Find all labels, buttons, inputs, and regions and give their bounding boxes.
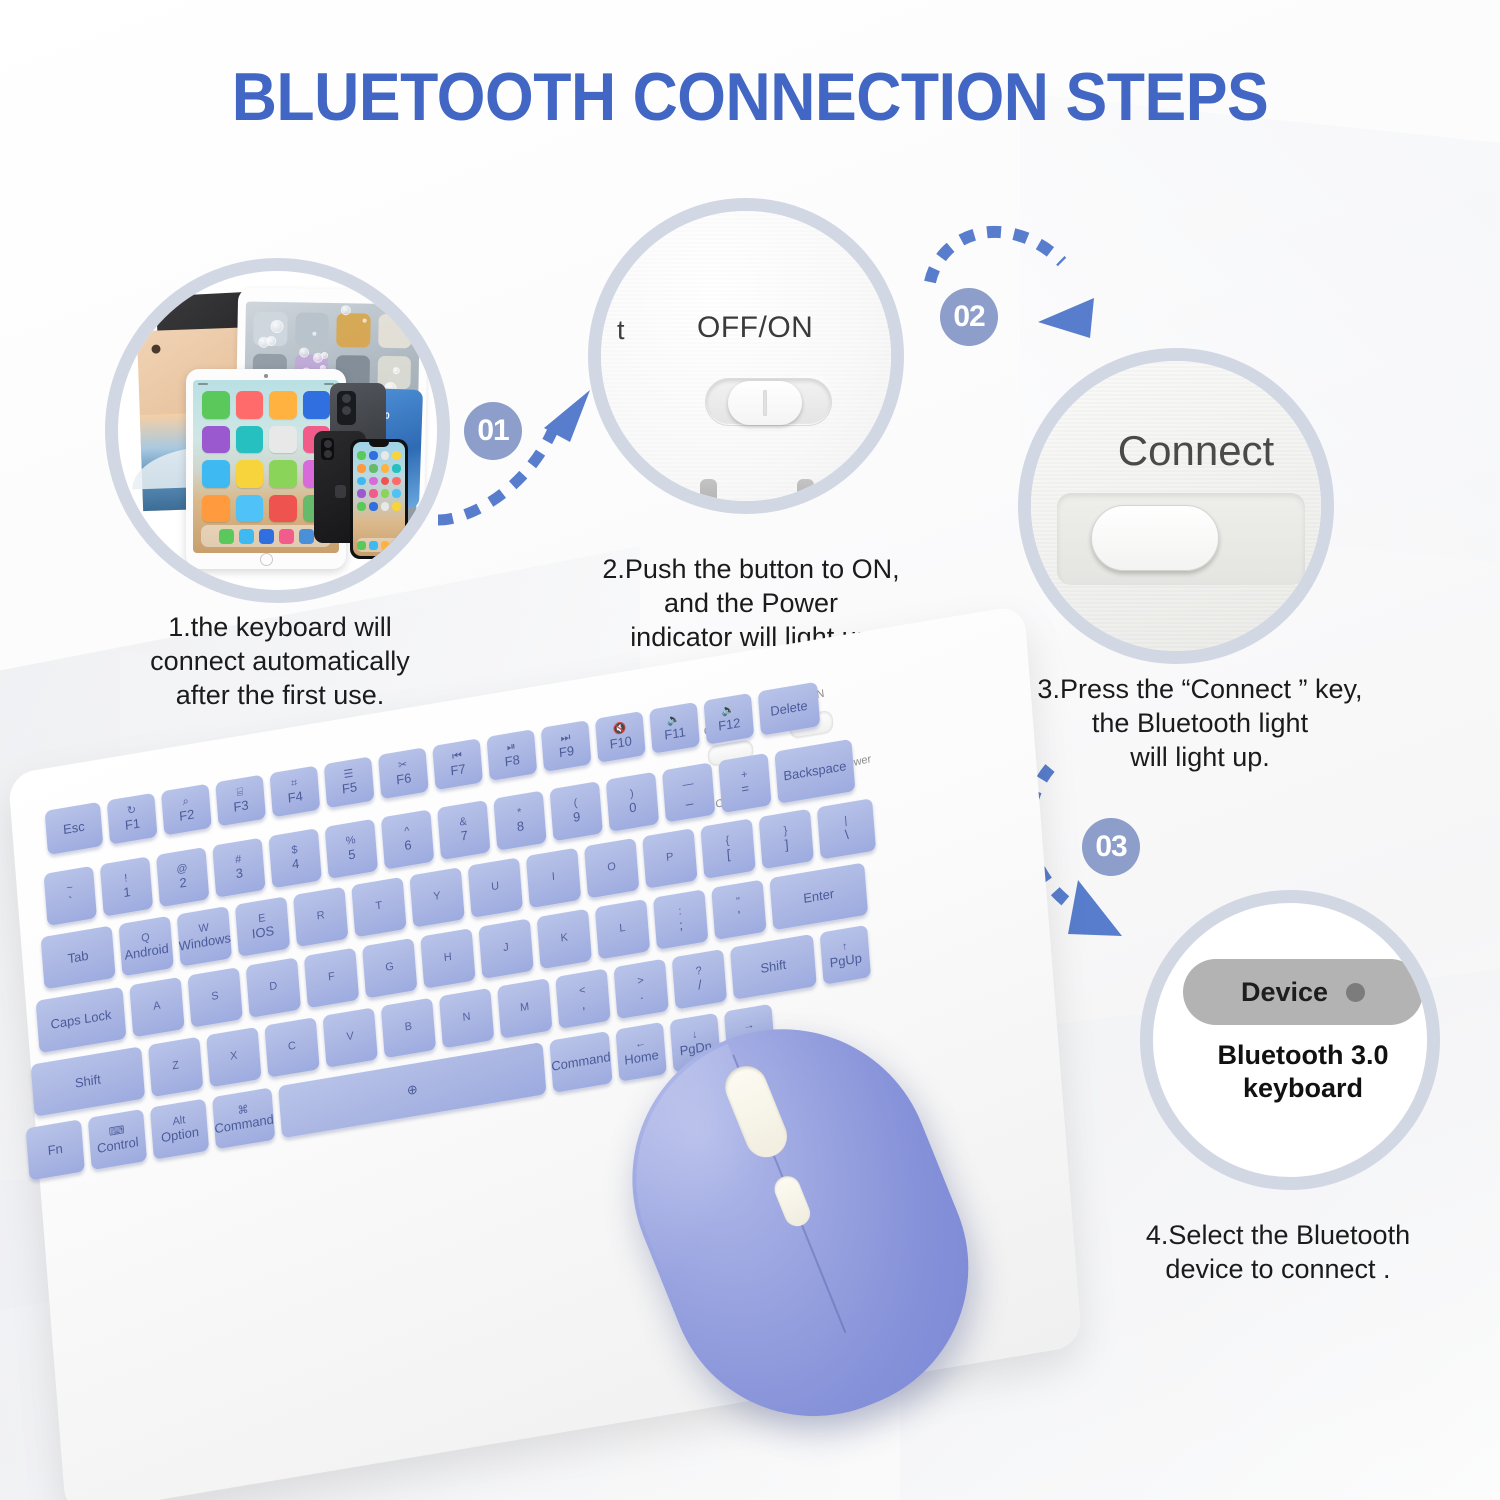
key-5[interactable]: %5 (325, 819, 378, 879)
key-legend-top: ⏮ (452, 751, 463, 764)
water-droplet (363, 319, 367, 323)
key-legend-top: I (552, 872, 556, 884)
step-3-illustration: Connect (1018, 348, 1334, 664)
key-f2[interactable]: ⌕F2 (161, 784, 212, 836)
key-key[interactable]: ~` (44, 866, 97, 926)
key-key[interactable]: :; (653, 889, 708, 950)
key-legend-bottom: [ (726, 847, 731, 861)
key-legend-bottom: F5 (342, 780, 358, 796)
key-legend-bottom: , (581, 997, 586, 1011)
power-switch-knob[interactable] (728, 381, 802, 425)
step-2-illustration: t OFF/ON (588, 198, 904, 514)
key-j[interactable]: J (478, 918, 533, 979)
key-key[interactable]: —_ (662, 762, 715, 822)
key-k[interactable]: K (537, 909, 592, 970)
dock-icon (381, 541, 390, 550)
dock-icon (279, 529, 294, 544)
app-icon (269, 460, 297, 488)
offon-label: OFF/ON (697, 311, 813, 345)
key-legend-top: B (404, 1022, 412, 1035)
key-legend-top: O (607, 862, 616, 875)
key-legend-top: R (316, 910, 325, 923)
key-legend-bottom: Esc (63, 820, 85, 837)
dock-icon (259, 529, 274, 544)
key-f3[interactable]: ⌸F3 (215, 775, 266, 827)
key-legend-bottom: 3 (235, 866, 243, 881)
key-f7[interactable]: ⏮F7 (432, 738, 483, 790)
key-legend-top: ← (635, 1038, 647, 1051)
app-icon (392, 464, 401, 473)
key-legend-top: T (375, 901, 383, 914)
indicator-led-right (797, 479, 814, 514)
connect-label: Connect (1081, 427, 1311, 475)
key-f12[interactable]: 🔊F12 (703, 693, 754, 745)
key-l[interactable]: L (595, 899, 650, 960)
key-c[interactable]: C (264, 1017, 319, 1078)
key-legend-top: * (517, 808, 522, 820)
key-legend-bottom: F6 (396, 771, 412, 787)
key-legend-top: Y (433, 891, 441, 904)
app-icon (369, 489, 378, 498)
key-legend-top: 🔊 (721, 705, 735, 719)
key-key[interactable]: ?/ (672, 949, 727, 1010)
key-legend-top: ⌕ (182, 796, 189, 809)
key-legend-top: > (637, 976, 644, 989)
app-icon (269, 426, 297, 454)
key-1[interactable]: !1 (100, 856, 153, 916)
device-row-pill[interactable]: Device (1183, 959, 1423, 1025)
device-pill-label: Device (1241, 977, 1328, 1008)
key-legend-top: K (560, 933, 568, 946)
key-legend-top: ( (573, 798, 578, 810)
indicator-led-left (700, 479, 717, 514)
app-icon (392, 489, 401, 498)
key-x[interactable]: X (206, 1027, 261, 1088)
key-6[interactable]: ^6 (381, 809, 434, 869)
key-enter[interactable]: Enter (769, 862, 868, 930)
key-legend-top: — (682, 779, 694, 792)
key-u[interactable]: U (468, 857, 523, 918)
key-key[interactable]: }] (759, 809, 814, 870)
app-icon (357, 489, 366, 498)
key-legend-top: ⌸ (236, 787, 243, 800)
key-legend-top: } (783, 826, 788, 838)
key-h[interactable]: H (420, 928, 475, 989)
key-legend-top: V (346, 1031, 354, 1044)
key-legend-top: L (619, 923, 626, 936)
app-icon (202, 426, 230, 454)
key-legend-bottom: ; (679, 918, 684, 932)
key-command[interactable]: ⌘Command (212, 1087, 275, 1149)
app-icon (236, 391, 264, 419)
key-legend-bottom: _ (685, 791, 693, 806)
key-legend-bottom: Shift (74, 1073, 101, 1091)
key-legend-bottom: 7 (460, 828, 468, 843)
key-legend-top: { (725, 836, 730, 848)
key-m[interactable]: M (497, 978, 552, 1039)
key-legend-top: ! (124, 874, 128, 886)
key-v[interactable]: V (323, 1007, 378, 1068)
key-legend-top: $ (291, 845, 298, 858)
key-legend-bottom: F9 (559, 744, 575, 760)
keyboard-panel-surface (588, 199, 904, 514)
key-f11[interactable]: 🔉F11 (649, 702, 700, 754)
power-switch-track[interactable] (705, 378, 832, 426)
key-ios[interactable]: EIOS (235, 896, 290, 957)
app-icon (381, 464, 390, 473)
key-legend-bottom: F7 (450, 762, 466, 778)
key-f4[interactable]: ⌗F4 (269, 765, 320, 817)
key-2[interactable]: @2 (156, 847, 209, 907)
key-n[interactable]: N (439, 988, 494, 1049)
key-legend-top: P (666, 852, 674, 865)
key-legend-top: E (258, 913, 266, 926)
key-legend-top: M (520, 1002, 530, 1015)
key-control[interactable]: ⌨Control (88, 1109, 147, 1170)
key-legend-top: " (736, 897, 741, 909)
key-legend-bottom: Caps Lock (50, 1008, 112, 1032)
key-legend-top: # (235, 855, 242, 868)
key-legend-bottom: ⊕ (406, 1082, 418, 1097)
step-badge-03: 03 (1082, 818, 1140, 876)
dock-icon (392, 541, 401, 550)
water-droplet (393, 367, 400, 374)
water-droplet (341, 305, 351, 315)
app-icon (202, 391, 230, 419)
app-icon (357, 502, 366, 511)
arrow-step-1-to-2 (430, 370, 610, 530)
key-legend-bottom: Tab (67, 949, 89, 966)
key-legend-bottom: IOS (251, 924, 274, 941)
key-legend-bottom: Delete (770, 699, 808, 719)
app-icon (381, 489, 390, 498)
key-0[interactable]: )0 (606, 772, 659, 832)
key-fn[interactable]: Fn (26, 1119, 85, 1180)
key-legend-bottom: Backspace (783, 759, 847, 783)
key-f[interactable]: F (304, 948, 359, 1009)
key-o[interactable]: O (584, 838, 639, 899)
key-legend-bottom: 1 (123, 885, 131, 900)
key-legend-top: ⏭ (560, 733, 571, 746)
key-f10[interactable]: 🔇F10 (595, 711, 646, 763)
key-legend-top: J (503, 942, 509, 954)
key-legend-top: Q (141, 933, 150, 946)
key-pgup[interactable]: ↑PgUp (820, 925, 871, 985)
key-3[interactable]: #3 (212, 838, 265, 898)
key-z[interactable]: Z (148, 1037, 203, 1098)
key-legend-top: ? (695, 966, 702, 979)
key-legend-top: D (269, 981, 278, 994)
key-f6[interactable]: ✂F6 (378, 747, 429, 799)
partial-label-text: t (617, 315, 625, 346)
key-legend-bottom: = (741, 781, 750, 796)
app-icon (369, 451, 378, 460)
key-legend-top: ⏯ (507, 742, 517, 755)
key-legend-top: @ (176, 864, 188, 877)
infographic-canvas: BLUETOOTH CONNECTION STEPS 08 0\u00a0 (0, 0, 1500, 1500)
key-windows[interactable]: WWindows (177, 906, 232, 967)
key-key[interactable]: >. (613, 959, 668, 1020)
key-legend-bottom: ] (784, 838, 789, 852)
app-icon (357, 464, 366, 473)
key-legend-bottom: F8 (504, 753, 520, 769)
dock-icon (239, 529, 254, 544)
black-phone-front (350, 439, 408, 559)
key-legend-top: ~ (66, 883, 73, 896)
water-droplet (312, 332, 316, 336)
app-icon (236, 460, 264, 488)
key-legend-bottom: Enter (803, 887, 835, 906)
key-command[interactable]: Command (549, 1031, 612, 1093)
key-b[interactable]: B (381, 998, 436, 1059)
key-key[interactable]: <, (555, 968, 610, 1029)
key-legend-bottom: \ (845, 828, 850, 842)
key-option[interactable]: AltOption (150, 1098, 209, 1159)
key-legend-top: S (211, 991, 219, 1004)
key-legend-top: F (328, 972, 336, 985)
step-1-illustration: 08 0\u00a0 (105, 258, 450, 603)
app-icon (381, 451, 390, 460)
key-legend-bottom: ` (68, 895, 73, 909)
key-key[interactable]: "' (711, 879, 766, 940)
key-android[interactable]: QAndroid (118, 916, 173, 977)
key-legend-top: : (678, 907, 682, 919)
water-droplet (266, 336, 276, 346)
water-droplet (313, 353, 323, 363)
key-legend-top: W (198, 923, 209, 936)
key-legend-top: ↓ (692, 1030, 698, 1042)
step-4-illustration: Device Bluetooth 3.0 keyboard (1140, 890, 1440, 1190)
key-legend-bottom: F4 (287, 789, 303, 805)
key-legend-top: ✂ (398, 760, 408, 773)
key-legend-bottom: 5 (348, 847, 356, 862)
key-y[interactable]: Y (409, 867, 464, 928)
key-legend-bottom: Fn (47, 1142, 63, 1158)
key-legend-bottom: Home (624, 1048, 659, 1067)
app-icon (369, 477, 378, 486)
key-p[interactable]: P (642, 828, 697, 889)
key-g[interactable]: G (362, 938, 417, 999)
arrow-step-2-to-3 (912, 210, 1112, 370)
step-4-caption: 4.Select the Bluetooth device to connect… (1068, 1218, 1488, 1286)
key-legend-bottom: / (697, 978, 702, 992)
key-legend-top: N (462, 1012, 471, 1025)
key-f8[interactable]: ⏯F8 (486, 729, 537, 781)
key-legend-top: % (346, 835, 357, 848)
step-badge-01: 01 (464, 402, 522, 460)
key-legend-top: 🔉 (667, 714, 681, 728)
key-legend-bottom: 0 (629, 800, 637, 815)
app-icon (269, 391, 297, 419)
key-s[interactable]: S (187, 967, 242, 1028)
key-legend-bottom: F3 (233, 798, 249, 814)
key-f5[interactable]: ☰F5 (324, 756, 375, 808)
app-icon (369, 502, 378, 511)
dock-icon (219, 529, 234, 544)
app-icon (392, 451, 401, 460)
key-legend-top: ☰ (343, 769, 354, 782)
key-legend-top: + (741, 770, 748, 783)
key-t[interactable]: T (351, 877, 406, 938)
app-icon (303, 391, 331, 419)
key-legend-bottom: 4 (291, 857, 299, 872)
key-legend-bottom: ' (738, 908, 742, 922)
key-legend-top: | (844, 816, 848, 828)
app-icon (392, 477, 401, 486)
key-legend-bottom: 9 (573, 810, 581, 825)
key-legend-top: Z (172, 1061, 180, 1074)
app-icon (236, 426, 264, 454)
key-shift[interactable]: Shift (730, 934, 817, 1000)
key-legend-bottom: . (639, 988, 644, 1002)
connect-key-button[interactable] (1091, 505, 1219, 571)
key-legend-bottom: Shift (760, 958, 787, 976)
key-legend-top: ⌗ (291, 778, 298, 791)
key-legend-bottom: 2 (179, 875, 187, 890)
key-legend-top: Alt (172, 1115, 186, 1129)
key-f1[interactable]: ↻F1 (107, 793, 158, 845)
key-legend-bottom: PgUp (829, 951, 862, 970)
key-8[interactable]: *8 (493, 791, 546, 851)
key-legend-top: 🔇 (613, 723, 627, 737)
dock-icon (369, 541, 378, 550)
key-legend-top: ) (630, 789, 635, 801)
key-a[interactable]: A (129, 977, 184, 1038)
key-legend-bottom: F1 (125, 816, 141, 832)
key-legend-bottom: 6 (404, 838, 412, 853)
key-legend-top: & (459, 817, 467, 830)
dock-icon (299, 529, 314, 544)
app-icon (392, 502, 401, 511)
key-r[interactable]: R (293, 887, 348, 948)
key-legend-top: U (491, 881, 500, 894)
app-icon (202, 495, 230, 523)
key-7[interactable]: &7 (437, 800, 490, 860)
device-status-dot (1346, 983, 1365, 1002)
app-icon (378, 314, 412, 348)
app-icon (295, 312, 329, 346)
app-icon (269, 495, 297, 523)
key-4[interactable]: $4 (268, 828, 321, 888)
app-icon (202, 460, 230, 488)
key-key[interactable]: += (718, 753, 771, 813)
key-legend-top: ↻ (127, 805, 137, 818)
key-esc[interactable]: Esc (45, 802, 104, 855)
dock-icon (357, 541, 366, 550)
key-backspace[interactable]: Backspace (774, 739, 855, 804)
app-icon (381, 502, 390, 511)
page-title: BLUETOOTH CONNECTION STEPS (60, 58, 1440, 136)
key-legend-top: ⌘ (237, 1105, 249, 1118)
key-legend-top: H (444, 952, 453, 965)
key-i[interactable]: I (526, 848, 581, 909)
key-legend-top: ^ (404, 826, 410, 838)
key-9[interactable]: (9 (550, 781, 603, 841)
key-d[interactable]: D (246, 957, 301, 1018)
key-legend-top: G (385, 962, 394, 975)
device-name-text: Bluetooth 3.0 keyboard (1165, 1039, 1440, 1105)
app-icon (357, 477, 366, 486)
app-icon (236, 495, 264, 523)
key-key[interactable]: {[ (700, 818, 755, 879)
key-key[interactable]: |\ (817, 798, 876, 859)
key-legend-top: A (153, 1001, 161, 1014)
key-legend-bottom: 8 (516, 819, 524, 834)
app-icon (369, 464, 378, 473)
key-legend-top: < (579, 986, 586, 999)
key-legend-top: X (230, 1051, 238, 1064)
key-legend-top: C (288, 1041, 297, 1054)
app-icon (357, 451, 366, 460)
app-icon (381, 477, 390, 486)
key-legend-top: ↑ (842, 942, 848, 954)
key-legend-bottom: F2 (179, 807, 195, 823)
key-f9[interactable]: ⏭F9 (541, 720, 592, 772)
key-legend-bottom: Command (551, 1050, 611, 1074)
step-badge-02: 02 (940, 288, 998, 346)
key-tab[interactable]: Tab (41, 926, 116, 990)
